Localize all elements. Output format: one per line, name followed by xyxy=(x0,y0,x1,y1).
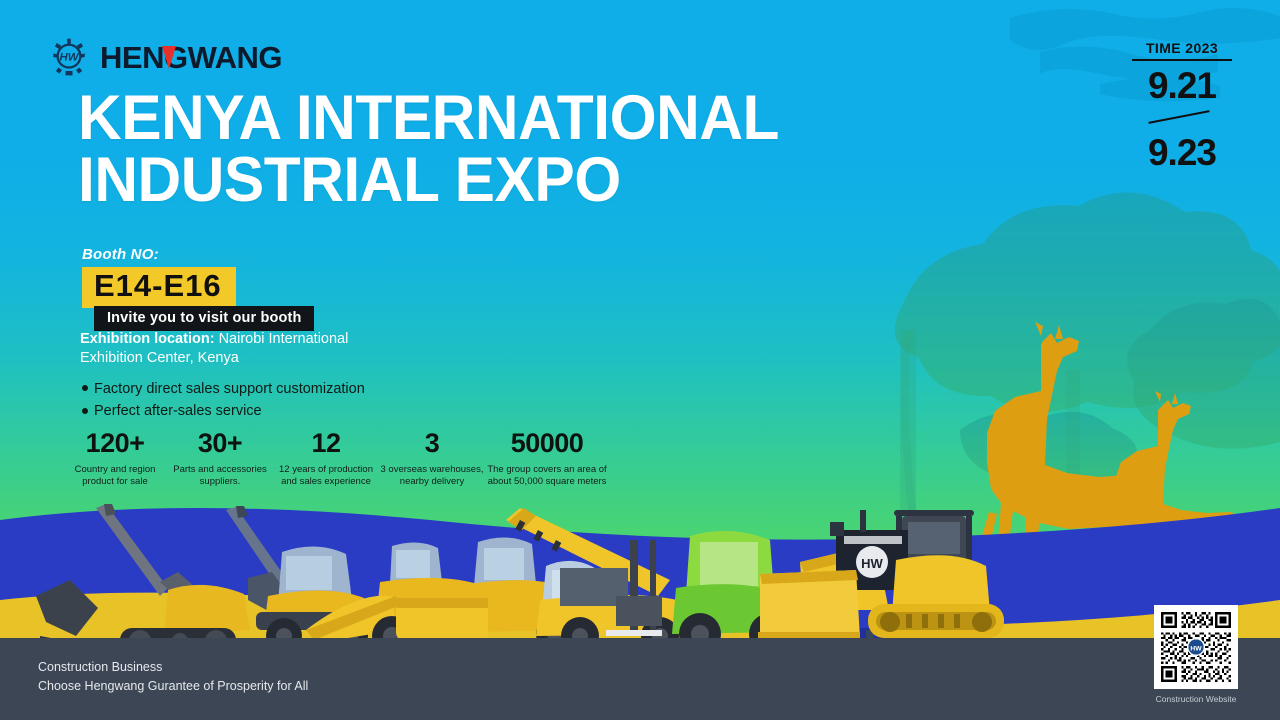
headline-line-2: INDUSTRIAL EXPO xyxy=(78,150,779,212)
stat-item: 30+ Parts and accessories suppliers. xyxy=(168,430,272,487)
banner-canvas: HW xyxy=(0,0,1280,720)
booth-label: Booth NO: xyxy=(82,246,314,263)
bullet-dot-icon xyxy=(82,408,88,414)
date-end: 9.23 xyxy=(1132,134,1232,173)
stat-description: 3 overseas warehouses, nearby delivery xyxy=(380,464,484,487)
stat-item: 3 3 overseas warehouses, nearby delivery xyxy=(380,430,484,487)
stat-description: Parts and accessories suppliers. xyxy=(168,464,272,487)
stat-item: 120+ Country and region product for sale xyxy=(62,430,168,487)
booth-block: Booth NO: E14-E16 Invite you to visit ou… xyxy=(82,246,314,331)
bullet-dot-icon xyxy=(82,385,88,391)
bullet-text: Perfect after-sales service xyxy=(94,403,262,419)
diagonal-slash-icon xyxy=(1132,106,1232,128)
stat-number: 3 xyxy=(380,430,484,457)
stat-number: 30+ xyxy=(168,430,272,457)
brand-logo[interactable]: HW HENGWANG xyxy=(48,36,282,78)
event-date-block: TIME 2023 9.21 9.23 xyxy=(1132,40,1232,173)
headline-line-1: KENYA INTERNATIONAL xyxy=(78,88,779,150)
logo-accent-triangle-icon xyxy=(162,46,176,69)
booth-invite-banner: Invite you to visit our booth xyxy=(94,306,314,331)
stat-item: 12 12 years of production and sales expe… xyxy=(272,430,380,487)
stat-number: 120+ xyxy=(62,430,168,457)
qr-code-image[interactable]: HW xyxy=(1154,605,1238,689)
booth-number-badge: E14-E16 xyxy=(82,267,236,308)
gear-hw-logo-icon: HW xyxy=(48,36,90,78)
bulldozer: HW xyxy=(758,510,1004,642)
date-start: 9.21 xyxy=(1132,67,1232,106)
stat-number: 50000 xyxy=(484,430,610,457)
footer-bar: Construction Business Choose Hengwang Gu… xyxy=(0,638,1280,720)
stat-number: 12 xyxy=(272,430,380,457)
svg-text:HW: HW xyxy=(861,556,883,571)
logo-monogram: HW xyxy=(60,52,80,64)
location-label: Exhibition location: xyxy=(80,331,215,347)
exhibition-location: Exhibition location: Nairobi Internation… xyxy=(80,330,370,368)
footer-line-1: Construction Business xyxy=(38,658,308,677)
list-item: Factory direct sales support customizati… xyxy=(82,378,365,400)
qr-code-block[interactable]: HW Construction Website xyxy=(1154,605,1238,704)
page-title: KENYA INTERNATIONAL INDUSTRIAL EXPO xyxy=(78,88,779,211)
statistics-row: 120+ Country and region product for sale… xyxy=(62,430,610,487)
bullet-text: Factory direct sales support customizati… xyxy=(94,381,365,397)
qr-caption: Construction Website xyxy=(1154,694,1238,704)
footer-line-2: Choose Hengwang Gurantee of Prosperity f… xyxy=(38,677,308,696)
brand-name-text: HENGWANG xyxy=(100,40,282,75)
hw-badge-icon: HW xyxy=(1190,645,1202,652)
list-item: Perfect after-sales service xyxy=(82,400,365,422)
stat-description: The group covers an area of about 50,000… xyxy=(484,464,610,487)
brand-wordmark: HENGWANG xyxy=(100,42,282,73)
footer-slogan: Construction Business Choose Hengwang Gu… xyxy=(38,658,308,697)
stat-description: 12 years of production and sales experie… xyxy=(272,464,380,487)
feature-bullet-list: Factory direct sales support customizati… xyxy=(82,378,365,423)
stat-item: 50000 The group covers an area of about … xyxy=(484,430,610,487)
date-label: TIME 2023 xyxy=(1132,40,1232,61)
stat-description: Country and region product for sale xyxy=(62,464,168,487)
